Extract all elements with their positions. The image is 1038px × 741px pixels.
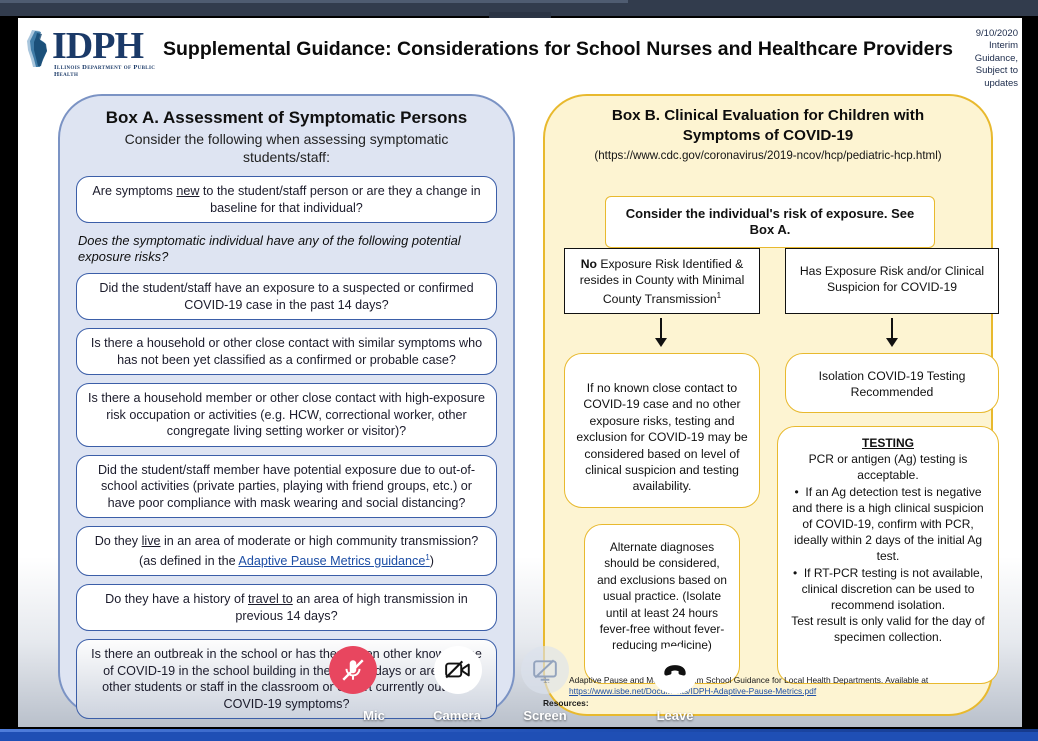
box-a-question-household-symptoms: Is there a household or other close cont… <box>76 328 497 375</box>
box-b-no-exposure-result: If no known close contact to COVID-19 ca… <box>564 353 760 508</box>
box-a-question-community-transmission: Do they live in an area of moderate or h… <box>76 526 497 576</box>
box-a-heading: Box A. Assessment of Symptomatic Persons <box>86 108 487 128</box>
box-b-isolation-result: Isolation COVID-19 Testing Recommended <box>785 353 999 413</box>
hang-up-icon <box>660 655 690 685</box>
footnote-link[interactable]: https://www.isbe.net/Documents/IDPH-Adap… <box>569 686 816 696</box>
box-b-no-exposure-box: No Exposure Risk Identified & resides in… <box>564 248 760 314</box>
box-a-question-new-symptoms: Are symptoms new to the student/staff pe… <box>76 176 497 223</box>
box-a-question-out-of-school: Did the student/staff member have potent… <box>76 455 497 519</box>
testing-outro: Test result is only valid for the day of… <box>787 613 989 645</box>
illinois-state-icon <box>24 29 50 69</box>
bottom-bar-sheen <box>0 729 1038 732</box>
box-a-subheading: Consider the following when assessing sy… <box>100 130 473 166</box>
adaptive-pause-metrics-link[interactable]: Adaptive Pause Metrics guidance1 <box>238 554 429 568</box>
testing-bullet-2: • If RT-PCR testing is not available, cl… <box>787 565 989 614</box>
screen-share-button[interactable] <box>521 646 569 694</box>
window-bottom-bar <box>0 729 1038 741</box>
camera-button-label: Camera <box>412 708 502 723</box>
leave-button-label: Leave <box>630 708 720 723</box>
letterbox-left <box>0 16 18 729</box>
box-b-consider-box: Consider the individual's risk of exposu… <box>605 196 935 248</box>
video-call-window: IDPH Illinois Department of Public Healt… <box>0 0 1038 741</box>
screen-button-label: Screen <box>500 708 590 723</box>
mic-button-label: Mic <box>329 708 419 723</box>
testing-bullet-1: • If an Ag detection test is negative an… <box>787 484 989 565</box>
camera-muted-icon <box>444 656 472 684</box>
page-title: Supplemental Guidance: Considerations fo… <box>158 38 958 61</box>
microphone-muted-icon <box>340 657 366 683</box>
shared-screen-slide: IDPH Illinois Department of Public Healt… <box>18 18 1022 727</box>
box-b-testing-box: TESTING PCR or antigen (Ag) testing is a… <box>777 426 999 684</box>
box-a-question-high-risk-occupation: Is there a household member or other clo… <box>76 383 497 447</box>
revision-stamp: 9/10/2020InterimGuidance,Subject toupdat… <box>952 28 1018 90</box>
resources-label: Resources: <box>543 698 1013 709</box>
leave-call-button[interactable] <box>651 646 699 694</box>
camera-toggle-button[interactable] <box>434 646 482 694</box>
box-a-exposure-prompt: Does the symptomatic individual have any… <box>78 233 495 265</box>
top-bar-accent <box>0 0 628 3</box>
box-a-question-exposure: Did the student/staff have an exposure t… <box>76 273 497 320</box>
letterbox-right <box>1022 16 1038 729</box>
box-b-has-exposure-box: Has Exposure Risk and/or Clinical Suspic… <box>785 248 999 314</box>
mic-toggle-button[interactable] <box>329 646 377 694</box>
box-b-heading: Box B. Clinical Evaluation for Children … <box>571 106 965 146</box>
logo-wordmark: IDPH <box>52 26 143 66</box>
footnote-text: Adaptive Pause and Metrics: Interim Scho… <box>569 675 928 685</box>
box-b-panel: Box B. Clinical Evaluation for Children … <box>543 94 993 716</box>
box-b-cdc-url: (https://www.cdc.gov/coronavirus/2019-nc… <box>559 149 977 162</box>
slide-footnote: 1.Adaptive Pause and Metrics: Interim Sc… <box>543 675 1013 709</box>
screen-share-icon <box>532 657 558 683</box>
testing-intro: PCR or antigen (Ag) testing is acceptabl… <box>809 452 968 482</box>
testing-title: TESTING <box>787 435 989 451</box>
logo-subtitle: Illinois Department of Public Health <box>54 64 172 78</box>
box-a-panel: Box A. Assessment of Symptomatic Persons… <box>58 94 515 716</box>
box-a-question-travel: Do they have a history of travel to an a… <box>76 584 497 631</box>
idph-logo: IDPH Illinois Department of Public Healt… <box>22 26 172 74</box>
